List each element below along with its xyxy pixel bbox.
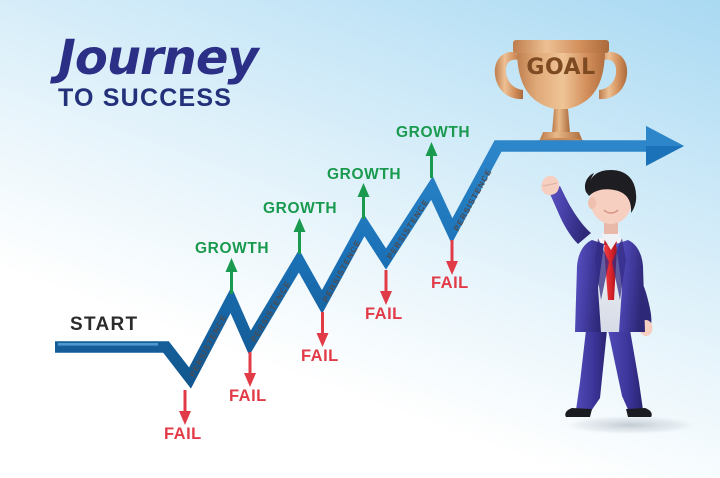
shoe-left [565,408,592,417]
celebrating-businessman [0,0,720,478]
leg-right [608,330,643,414]
shoe-right [626,408,652,417]
arm-raised [549,186,591,244]
leg-left [576,330,607,414]
figure-shadow [558,415,702,435]
journey-to-success-infographic: Journey TO SUCCESS [0,0,720,478]
